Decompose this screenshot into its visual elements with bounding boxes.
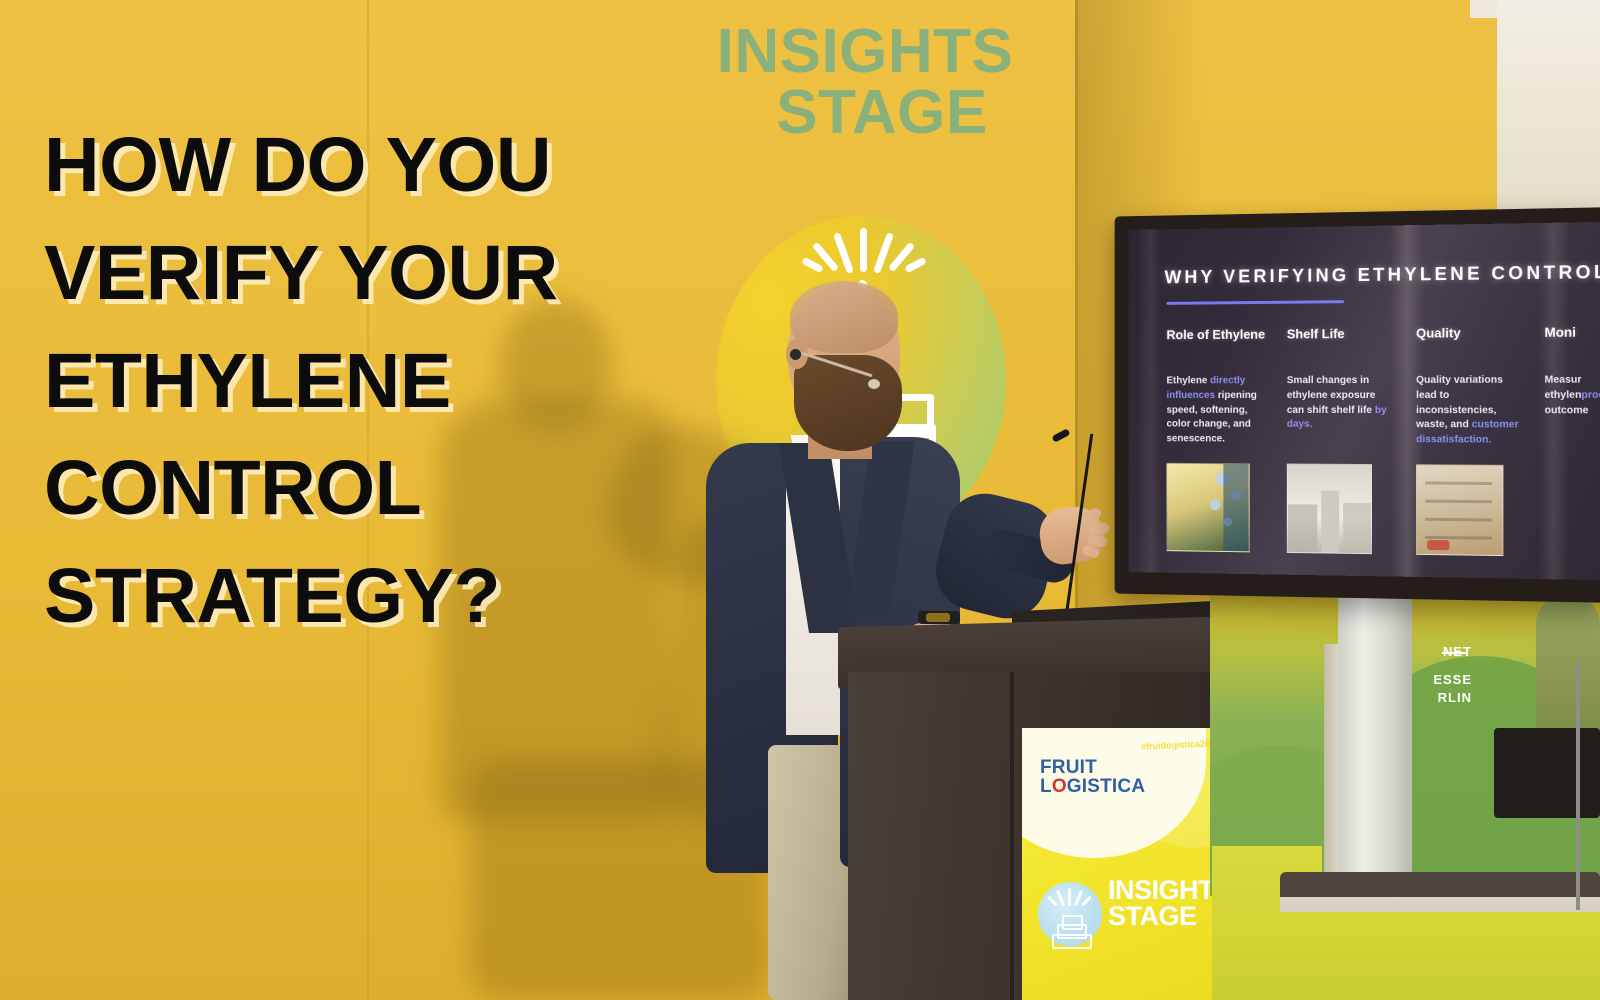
fl-logo-dot: O bbox=[1052, 776, 1067, 797]
shaved-scalp bbox=[790, 281, 898, 353]
badge-podium-steps-icon bbox=[1052, 916, 1088, 944]
slide-thumbnail-3 bbox=[1416, 464, 1503, 556]
fl-logo-line2: LOGISTICA bbox=[1040, 777, 1145, 796]
fruit-logistica-logo: FRUIT LOGISTICA bbox=[1040, 758, 1145, 797]
backdrop-headline: INSIGHTS STAGE bbox=[700, 22, 1030, 144]
slide-title: WHY VERIFYING ETHYLENE CONTROL MA bbox=[1165, 260, 1600, 288]
slide-column-heading-1: Role of Ethylene bbox=[1167, 327, 1266, 342]
title-line-1: HOW DO YOU bbox=[44, 112, 704, 220]
slide-title-underline bbox=[1167, 300, 1345, 305]
headset-mic-capsule bbox=[868, 379, 880, 389]
slide-column-body-3: Quality variations lead to inconsistenci… bbox=[1416, 374, 1522, 449]
video-title-overlay: HOW DO YOU VERIFY YOUR ETHYLENE CONTROL … bbox=[44, 112, 704, 651]
equipment-box bbox=[1494, 728, 1600, 818]
fl-logo-line1: FRUIT bbox=[1040, 758, 1145, 777]
slide-thumbnail-1 bbox=[1167, 463, 1250, 553]
lectern-corner-edge bbox=[1010, 672, 1014, 1000]
signage-line3: RLIN bbox=[1438, 690, 1472, 705]
presentation-display[interactable]: WHY VERIFYING ETHYLENE CONTROL MA Role o… bbox=[1128, 222, 1600, 580]
backdrop-headline-line2: STAGE bbox=[700, 83, 1030, 144]
light-stand-pole bbox=[1576, 660, 1580, 910]
signage-divider bbox=[1442, 652, 1468, 654]
conference-stage-screenshot: INSIGHTS STAGE bbox=[0, 0, 1600, 1000]
slide-column-heading-4: Moni bbox=[1545, 324, 1576, 339]
stage-chair bbox=[1536, 596, 1600, 736]
stage-carpet bbox=[1212, 912, 1600, 1000]
slide-column-body-4: Measur ethylenproducti outcome bbox=[1545, 373, 1600, 418]
lectern-branding-poster: FRUIT LOGISTICA #fruitlogistica26 INSIGH… bbox=[1022, 728, 1218, 1000]
earring bbox=[790, 349, 801, 360]
slide-column-body-1: Ethylene directly influences ripening sp… bbox=[1167, 374, 1268, 447]
poster-stage-name: INSIGHTS STAGE bbox=[1108, 878, 1218, 930]
slide-column-body-2: Small changes in ethylene exposure can s… bbox=[1287, 374, 1390, 433]
slide-column-heading-2: Shelf Life bbox=[1287, 326, 1345, 341]
clicker-highlight bbox=[926, 613, 950, 622]
backdrop-headline-line1: INSIGHTS bbox=[700, 22, 1030, 83]
slide-thumbnail-2 bbox=[1287, 464, 1372, 555]
title-line-5: STRATEGY? bbox=[44, 543, 704, 651]
slide-column-heading-3: Quality bbox=[1416, 325, 1461, 340]
screen-glare-left bbox=[1138, 229, 1163, 572]
far-wall-panel bbox=[1497, 0, 1600, 235]
screen-stand-pillar bbox=[1338, 596, 1412, 896]
title-line-2: VERIFY YOUR bbox=[44, 220, 704, 328]
poster-stage-line2: STAGE bbox=[1108, 904, 1218, 930]
title-line-3: ETHYLENE bbox=[44, 328, 704, 436]
title-line-4: CONTROL bbox=[44, 435, 704, 543]
signage-line2: ESSE bbox=[1433, 672, 1472, 687]
